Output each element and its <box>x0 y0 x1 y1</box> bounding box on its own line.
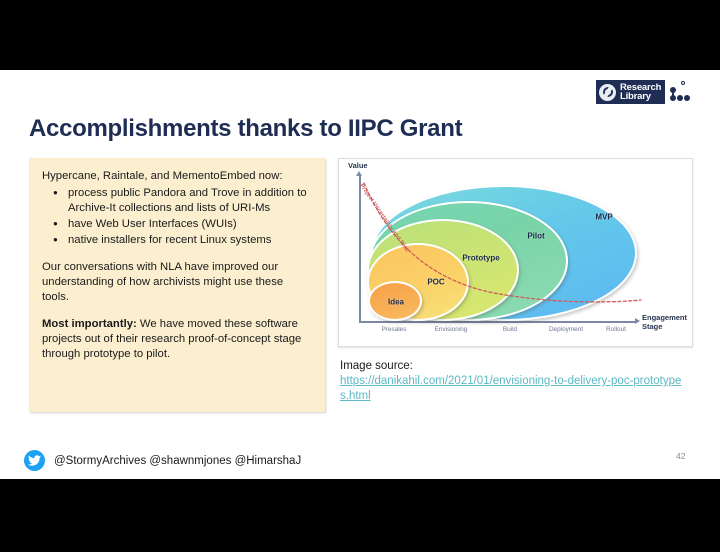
x-tick-build: Build <box>503 326 517 333</box>
page-number: 42 <box>676 451 685 461</box>
slide-canvas: Research Library Accomplishments thanks … <box>0 70 720 479</box>
chart-y-axis-label: Value <box>348 161 368 170</box>
stage-label-idea: Idea <box>388 298 404 307</box>
letterbox-top <box>0 0 720 70</box>
stage-label-pilot: Pilot <box>527 232 544 241</box>
x-tick-envisioning: Envisioning <box>435 326 468 333</box>
chart-y-axis <box>359 175 361 323</box>
panel-lead-text: Hypercane, Raintale, and MementoEmbed no… <box>42 169 312 184</box>
list-item: process public Pandora and Trove in addi… <box>68 186 312 216</box>
engagement-stage-chart: Value Engagement Stage MVP Pilot Prototy… <box>338 158 693 347</box>
twitter-handles: @StormyArchives @shawnmjones @HimarshaJ <box>54 455 301 467</box>
image-source-label: Image source: <box>340 359 690 374</box>
page-title: Accomplishments thanks to IIPC Grant <box>29 115 462 143</box>
chart-plot-area: Value Engagement Stage MVP Pilot Prototy… <box>339 159 693 347</box>
chart-x-axis <box>359 321 637 323</box>
research-library-mark-icon <box>599 84 616 101</box>
logo-line-2: Library <box>620 92 661 102</box>
stage-label-poc: POC <box>427 278 444 287</box>
footer-social: @StormyArchives @shawnmjones @HimarshaJ <box>24 450 301 471</box>
letterbox-bottom <box>0 479 720 552</box>
accomplishments-list: process public Pandora and Trove in addi… <box>42 186 312 248</box>
twitter-bird-icon <box>24 450 45 471</box>
slide-viewport: Research Library Accomplishments thanks … <box>0 0 720 552</box>
image-source-caption: Image source: https://danikahil.com/2021… <box>340 359 690 404</box>
x-tick-presales: Presales <box>382 326 407 333</box>
logo-dots-icon <box>668 80 690 104</box>
x-tick-deployment: Deployment <box>549 326 583 333</box>
research-library-logo: Research Library <box>596 78 690 106</box>
list-item: have Web User Interfaces (WUIs) <box>68 217 312 232</box>
accomplishments-panel: Hypercane, Raintale, and MementoEmbed no… <box>29 158 325 412</box>
x-tick-rollout: Rollout <box>606 326 626 333</box>
panel-paragraph-important: Most importantly: We have moved these so… <box>42 317 312 362</box>
logo-box: Research Library <box>596 80 665 104</box>
panel-paragraph-nla: Our conversations with NLA have improved… <box>42 260 312 305</box>
list-item: native installers for recent Linux syste… <box>68 233 312 248</box>
logo-wordmark: Research Library <box>620 83 661 102</box>
stage-label-mvp: MVP <box>595 213 612 222</box>
image-source-link[interactable]: https://danikahil.com/2021/01/envisionin… <box>340 374 690 404</box>
x-axis-arrow-icon <box>635 318 640 324</box>
chart-x-axis-label: Engagement Stage <box>642 313 690 331</box>
panel-important-label: Most importantly: <box>42 318 137 330</box>
stage-label-prototype: Prototype <box>462 254 499 263</box>
